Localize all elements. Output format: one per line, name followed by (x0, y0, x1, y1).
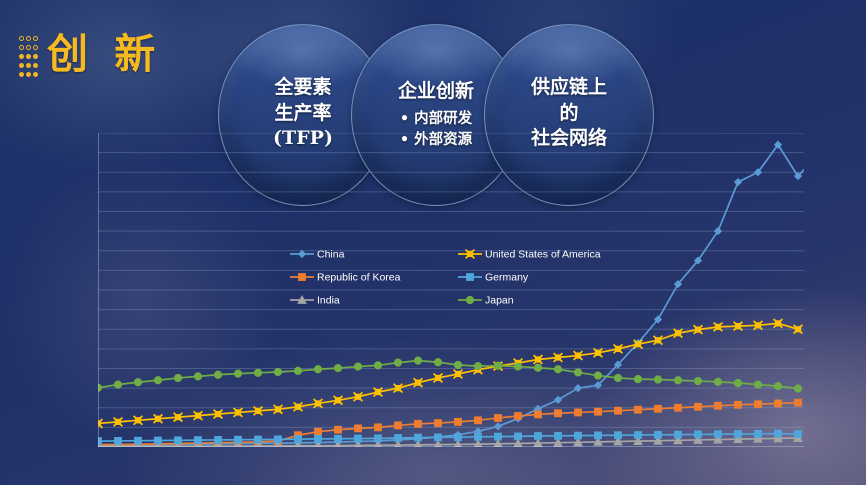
data-point-marker (414, 441, 422, 447)
data-point-marker (334, 365, 341, 372)
data-point-marker (794, 385, 801, 392)
data-point-marker (294, 367, 301, 374)
venn-circle-title: 企业创新 (398, 79, 474, 105)
data-point-marker (515, 413, 522, 420)
data-point-marker (495, 423, 502, 430)
data-point-marker (575, 409, 582, 416)
data-point-marker (775, 400, 782, 407)
data-point-marker (415, 420, 422, 427)
data-point-marker (735, 179, 742, 186)
legend-item[interactable]: Republic of Korea (290, 271, 401, 283)
data-point-marker (535, 433, 542, 440)
data-point-marker (299, 274, 306, 281)
chart-series (98, 141, 804, 447)
data-point-marker (655, 405, 662, 412)
data-point-marker (615, 407, 622, 414)
data-point-marker (395, 422, 402, 429)
legend-item[interactable]: India (290, 294, 340, 306)
line-chart: 0100000200000300000400000500000600000700… (98, 133, 804, 447)
data-point-marker (575, 432, 582, 439)
data-point-marker (774, 383, 781, 390)
data-point-marker (134, 379, 141, 386)
data-point-marker (675, 431, 682, 438)
data-point-marker (635, 406, 642, 413)
data-point-marker (315, 428, 322, 435)
data-point-marker (755, 430, 762, 437)
data-point-marker (515, 433, 522, 440)
data-point-marker (295, 436, 302, 443)
chart-svg: 0100000200000300000400000500000600000700… (98, 133, 804, 447)
slide-title-block: 创 新 (18, 30, 161, 79)
data-point-marker (694, 377, 701, 384)
data-point-marker (135, 437, 142, 444)
data-point-marker (335, 426, 342, 433)
data-point-marker (735, 401, 742, 408)
data-point-marker (275, 436, 282, 443)
data-point-marker (194, 373, 201, 380)
data-point-marker (115, 438, 122, 445)
data-point-marker (254, 369, 261, 376)
data-point-marker (595, 408, 602, 415)
data-point-marker (155, 437, 162, 444)
data-point-marker (314, 366, 321, 373)
legend-label: India (317, 294, 340, 306)
data-point-marker (614, 374, 621, 381)
data-point-marker (466, 296, 473, 303)
data-point-marker (455, 418, 462, 425)
chart-series-layer (98, 141, 804, 447)
data-point-marker (98, 438, 101, 445)
data-point-marker (234, 370, 241, 377)
data-point-marker (535, 411, 542, 418)
data-point-marker (534, 364, 541, 371)
data-point-marker (195, 437, 202, 444)
data-point-marker (374, 362, 381, 369)
data-point-marker (554, 366, 561, 373)
data-point-marker (634, 375, 641, 382)
data-point-marker (215, 437, 222, 444)
legend-label: China (317, 248, 345, 260)
dot-grid-icon (18, 34, 39, 79)
data-point-marker (255, 436, 262, 443)
data-point-marker (474, 363, 481, 370)
data-point-marker (495, 415, 502, 422)
data-point-marker (695, 431, 702, 438)
data-point-marker (415, 434, 422, 441)
data-point-marker (455, 434, 462, 441)
data-point-marker (495, 433, 502, 440)
data-point-marker (734, 379, 741, 386)
data-point-marker (435, 420, 442, 427)
series-line (98, 361, 798, 389)
data-point-marker (175, 437, 182, 444)
data-point-marker (655, 431, 662, 438)
data-point-marker (467, 274, 474, 281)
data-point-marker (274, 368, 281, 375)
data-point-marker (435, 434, 442, 441)
data-point-marker (394, 359, 401, 366)
data-point-marker (775, 430, 782, 437)
legend-label: United States of America (485, 248, 601, 260)
page-title: 创 新 (47, 34, 161, 75)
data-point-marker (355, 435, 362, 442)
data-point-marker (555, 432, 562, 439)
data-point-marker (395, 435, 402, 442)
data-point-marker (299, 251, 306, 258)
data-point-marker (154, 377, 161, 384)
data-point-marker (434, 359, 441, 366)
data-point-marker (214, 371, 221, 378)
data-point-marker (475, 417, 482, 424)
data-point-marker (414, 357, 421, 364)
legend-item[interactable]: United States of America (458, 248, 601, 260)
data-point-marker (514, 363, 521, 370)
data-point-marker (555, 410, 562, 417)
data-point-marker (174, 374, 181, 381)
data-point-marker (494, 362, 501, 369)
series-line (98, 323, 798, 423)
data-point-marker (675, 404, 682, 411)
data-point-marker (755, 401, 762, 408)
data-point-marker (114, 381, 121, 388)
legend-item[interactable]: China (290, 248, 345, 260)
data-point-marker (394, 441, 402, 447)
data-point-marker (754, 381, 761, 388)
slide-canvas: 创 新 全要素生产率(TFP) 企业创新 内部研发外部资源 供应链上的社会网络 … (0, 0, 866, 485)
data-point-marker (375, 435, 382, 442)
data-point-marker (315, 436, 322, 443)
data-point-marker (235, 436, 242, 443)
series-line (98, 145, 804, 445)
data-point-marker (475, 433, 482, 440)
data-point-marker (354, 363, 361, 370)
data-point-marker (98, 384, 102, 391)
data-point-marker (715, 402, 722, 409)
data-point-marker (715, 431, 722, 438)
data-point-marker (594, 372, 601, 379)
data-point-marker (795, 431, 802, 438)
data-point-marker (795, 399, 802, 406)
data-point-marker (595, 432, 602, 439)
chart-legend: ChinaRepublic of KoreaIndiaUnited States… (290, 248, 601, 306)
data-point-marker (735, 431, 742, 438)
venn-bullet-item: 内部研发 (400, 108, 472, 130)
legend-item[interactable]: Germany (458, 271, 529, 283)
legend-label: Republic of Korea (317, 271, 401, 283)
data-point-marker (454, 361, 461, 368)
data-point-marker (375, 424, 382, 431)
series-line (98, 403, 798, 445)
data-point-marker (695, 403, 702, 410)
data-point-marker (674, 377, 681, 384)
legend-label: Germany (485, 271, 529, 283)
chart-series (98, 357, 802, 392)
data-point-marker (654, 376, 661, 383)
data-point-marker (615, 432, 622, 439)
data-point-marker (335, 435, 342, 442)
data-point-marker (635, 432, 642, 439)
legend-label: Japan (485, 294, 514, 306)
legend-item[interactable]: Japan (458, 294, 514, 306)
data-point-marker (355, 425, 362, 432)
chart-series (98, 319, 802, 428)
data-point-marker (714, 378, 721, 385)
data-point-marker (574, 369, 581, 376)
